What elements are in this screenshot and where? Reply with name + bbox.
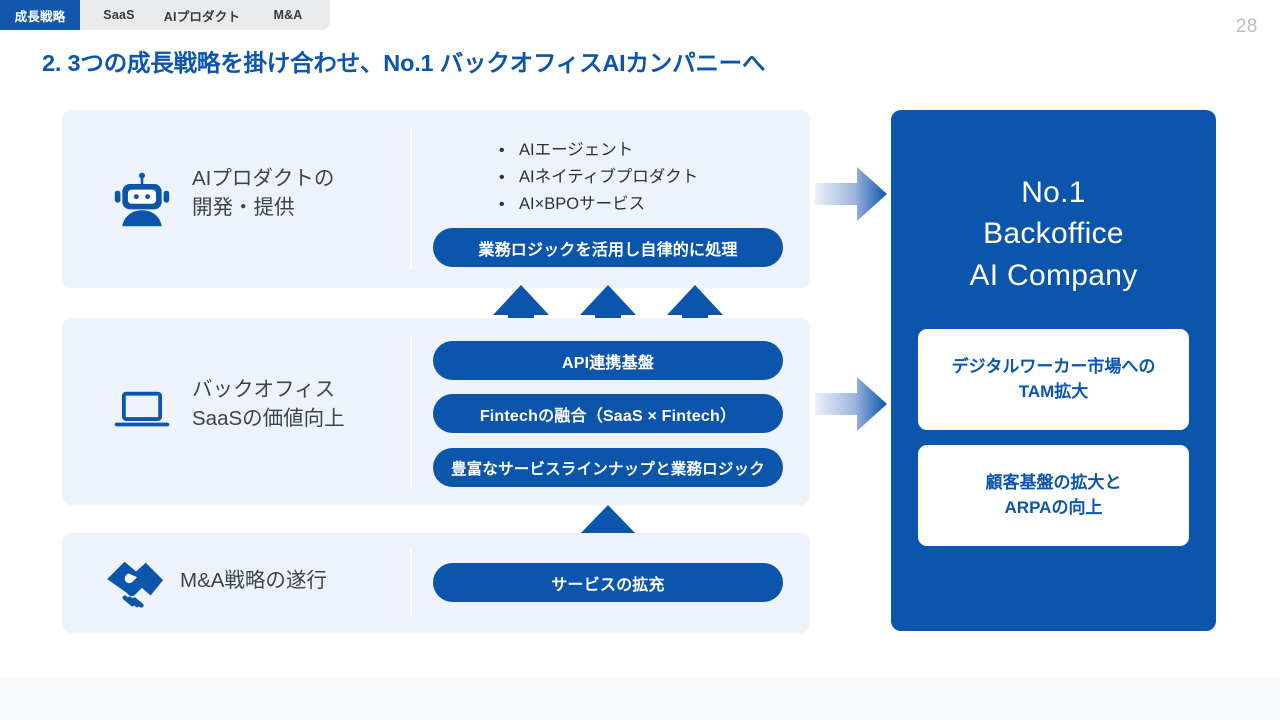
- strategy-heading-ai-product: AIプロダクトの 開発・提供: [192, 164, 334, 222]
- pill-saas-2[interactable]: 豊富なサービスラインナップと業務ロジック: [433, 448, 783, 487]
- bullet-item: • AIエージェント: [499, 137, 698, 164]
- bullet-item: • AIネイティブプロダクト: [499, 164, 698, 191]
- bottom-band: [0, 677, 1280, 720]
- robot-icon: [110, 167, 174, 231]
- bullet-label: AIエージェント: [519, 137, 633, 164]
- page-number: 28: [1236, 16, 1258, 38]
- strategy-bullets-ai-product: • AIエージェント • AIネイティブプロダクト • AI×BPOサービス: [499, 137, 698, 218]
- bullet-dot-icon: •: [499, 138, 519, 164]
- strategy-heading-backoffice-saas: バックオフィス SaaSの価値向上: [192, 375, 345, 433]
- pill-saas-0[interactable]: API連携基盤: [433, 341, 783, 380]
- handshake-icon: [104, 555, 174, 611]
- bullet-dot-icon: •: [499, 192, 519, 218]
- flow-arrow-ai-to-result: [815, 165, 887, 223]
- tab-bar: 成長戦略 SaaS AIプロダクト M&A: [0, 0, 330, 30]
- laptop-icon: [112, 380, 172, 440]
- pill-saas-1[interactable]: Fintechの融合（SaaS × Fintech）: [433, 394, 783, 433]
- page-title: 2. 3つの成長戦略を掛け合わせ、No.1 バックオフィスAIカンパニーへ: [42, 44, 765, 78]
- tab-saas[interactable]: SaaS: [80, 0, 158, 30]
- result-headline: No.1 Backoffice AI Company: [891, 172, 1216, 296]
- panel-divider: [410, 128, 412, 270]
- pill-ai-product-0[interactable]: 業務ロジックを活用し自律的に処理: [433, 228, 783, 267]
- pill-ma-0[interactable]: サービスの拡充: [433, 563, 783, 602]
- tab-growth-strategy[interactable]: 成長戦略: [0, 0, 80, 30]
- result-panel: No.1 Backoffice AI Company デジタルワーカー市場への …: [891, 110, 1216, 631]
- panel-divider: [410, 549, 412, 617]
- tab-ai-product[interactable]: AIプロダクト: [158, 0, 246, 30]
- bullet-dot-icon: •: [499, 165, 519, 191]
- panel-divider: [410, 336, 412, 488]
- bullet-label: AIネイティブプロダクト: [519, 164, 698, 191]
- flow-arrow-saas-to-result: [815, 375, 887, 433]
- result-card-tam: デジタルワーカー市場への TAM拡大: [918, 329, 1189, 430]
- strategy-heading-ma: M&A戦略の遂行: [180, 566, 327, 595]
- bullet-label: AI×BPOサービス: [519, 191, 645, 218]
- bullet-item: • AI×BPOサービス: [499, 191, 698, 218]
- tab-ma[interactable]: M&A: [246, 0, 330, 30]
- result-card-arpa: 顧客基盤の拡大と ARPAの向上: [918, 445, 1189, 546]
